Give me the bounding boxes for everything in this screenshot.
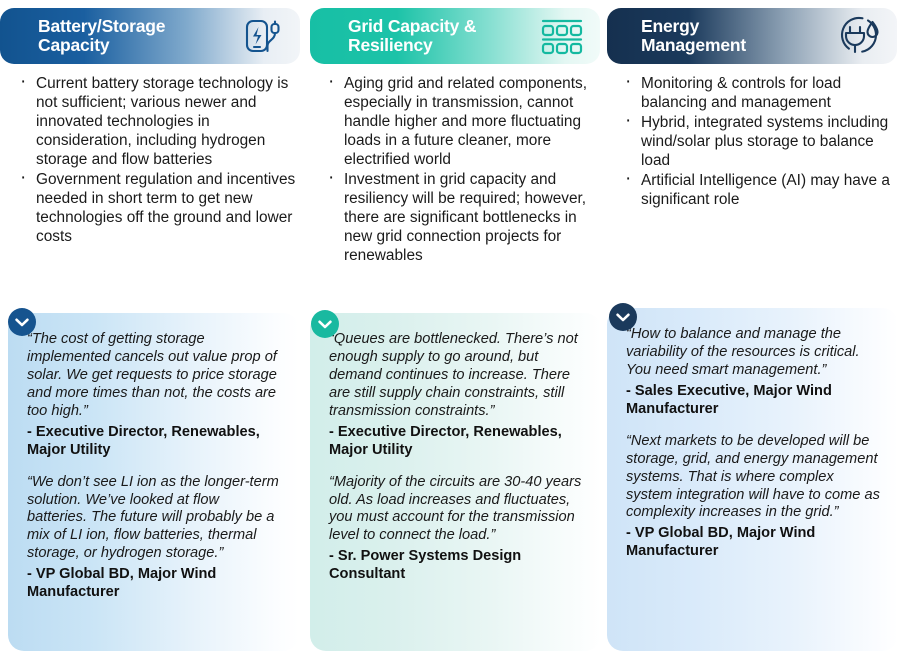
bullet-list-grid-capacity-resiliency: Aging grid and related components, espec… bbox=[310, 74, 602, 265]
quote-attribution: - VP Global BD, Major Wind Manufacturer bbox=[626, 525, 882, 561]
header-pill-grid-capacity-resiliency: Grid Capacity & Resiliency bbox=[310, 8, 600, 64]
battery-charging-plug-icon bbox=[236, 13, 288, 59]
quote-attribution: - Sr. Power Systems Design Consultant bbox=[329, 548, 585, 584]
quote-block: “Queues are bottlenecked. There’s not en… bbox=[329, 331, 585, 460]
quote-block: “We don’t see LI ion as the longer-term … bbox=[27, 474, 283, 603]
quote-attribution: - Sales Executive, Major Wind Manufactur… bbox=[626, 383, 882, 419]
grid-rows-icon bbox=[536, 13, 588, 59]
bullet-item: Aging grid and related components, espec… bbox=[324, 74, 602, 169]
quote-block: “Next markets to be developed will be st… bbox=[626, 433, 882, 562]
bullet-item: Artificial Intelligence (AI) may have a … bbox=[621, 171, 900, 209]
quote-card-battery-storage-capacity: “The cost of getting storage implemented… bbox=[8, 313, 299, 651]
quote-text: “The cost of getting storage implemented… bbox=[27, 331, 283, 421]
quote-attribution: - Executive Director, Renewables, Major … bbox=[27, 424, 283, 460]
quote-card-energy-management: “How to balance and manage the variabili… bbox=[607, 308, 898, 651]
quote-text: “We don’t see LI ion as the longer-term … bbox=[27, 474, 283, 564]
bullet-item: Government regulation and incentives nee… bbox=[16, 170, 300, 246]
bullet-item: Hybrid, integrated systems including win… bbox=[621, 113, 900, 170]
chevron-down-icon bbox=[8, 308, 36, 336]
quote-block: “Majority of the circuits are 30-40 year… bbox=[329, 474, 585, 585]
bullet-item: Monitoring & controls for load balancing… bbox=[621, 74, 900, 112]
header-pill-battery-storage-capacity: Battery/Storage Capacity bbox=[0, 8, 300, 64]
header-title-grid-capacity-resiliency: Grid Capacity & Resiliency bbox=[310, 17, 476, 55]
quote-text: “Majority of the circuits are 30-40 year… bbox=[329, 474, 585, 546]
quote-text: “Queues are bottlenecked. There’s not en… bbox=[329, 331, 585, 421]
chevron-down-icon bbox=[609, 303, 637, 331]
quote-attribution: - VP Global BD, Major Wind Manufacturer bbox=[27, 566, 283, 602]
header-pill-energy-management: Energy Management bbox=[607, 8, 897, 64]
quote-text: “Next markets to be developed will be st… bbox=[626, 433, 882, 523]
header-title-battery-storage-capacity: Battery/Storage Capacity bbox=[0, 17, 165, 55]
quote-block: “The cost of getting storage implemented… bbox=[27, 331, 283, 460]
bullet-item: Current battery storage technology is no… bbox=[16, 74, 300, 169]
bullet-list-energy-management: Monitoring & controls for load balancing… bbox=[607, 74, 900, 209]
quote-block: “How to balance and manage the variabili… bbox=[626, 326, 882, 419]
header-title-energy-management: Energy Management bbox=[607, 17, 746, 55]
quote-attribution: - Executive Director, Renewables, Major … bbox=[329, 424, 585, 460]
chevron-down-icon bbox=[311, 310, 339, 338]
quote-card-grid-capacity-resiliency: “Queues are bottlenecked. There’s not en… bbox=[310, 313, 601, 651]
quote-text: “How to balance and manage the variabili… bbox=[626, 326, 882, 380]
plug-droplet-circle-icon bbox=[833, 13, 885, 59]
bullet-item: Investment in grid capacity and resilien… bbox=[324, 170, 602, 265]
three-column-infographic: Battery/Storage Capacity Current battery… bbox=[0, 0, 900, 657]
bullet-list-battery-storage-capacity: Current battery storage technology is no… bbox=[0, 74, 300, 246]
